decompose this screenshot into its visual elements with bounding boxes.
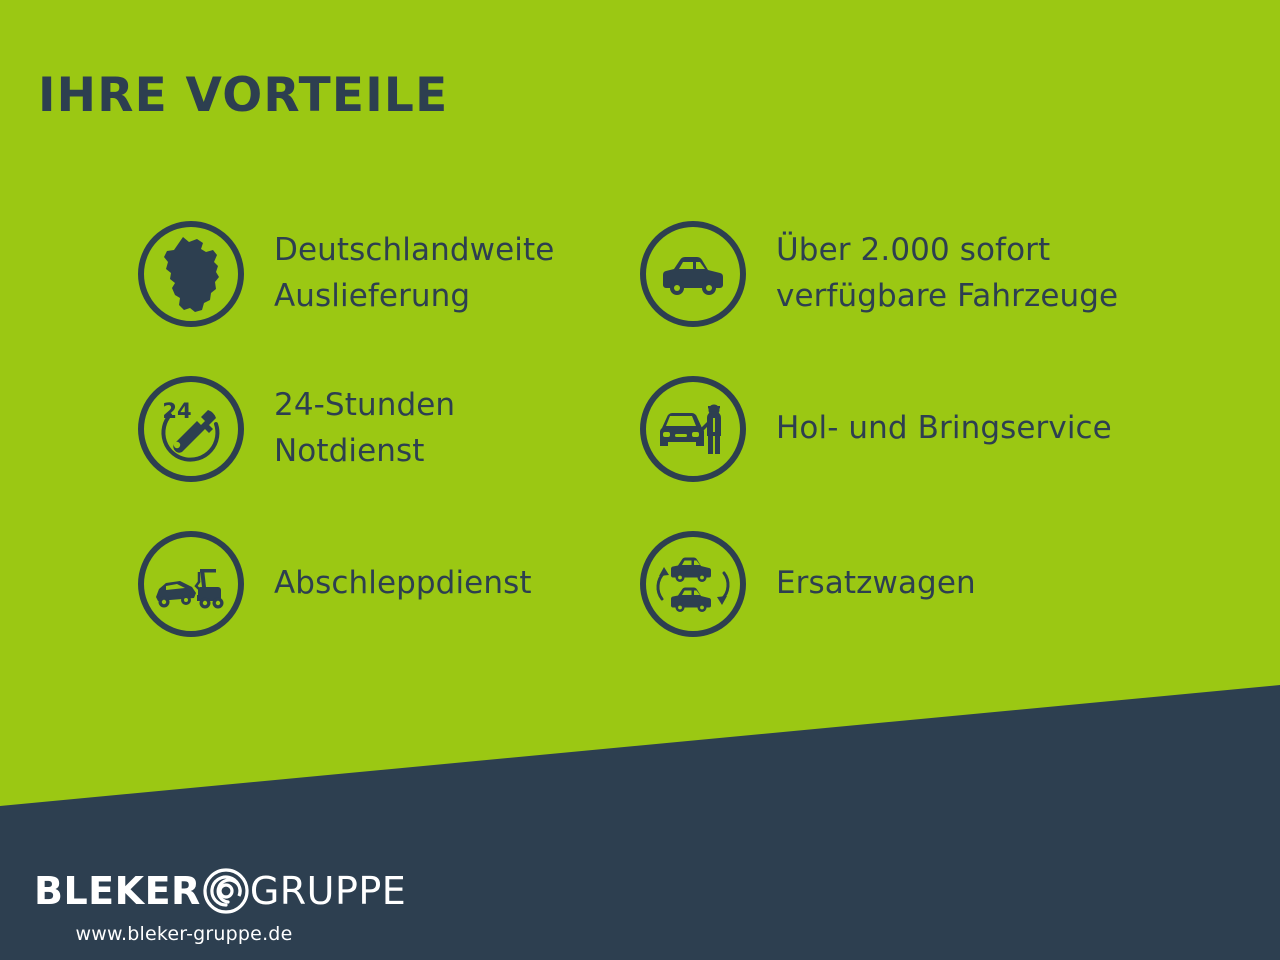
benefit-label: Deutschlandweite Auslieferung (274, 228, 554, 320)
benefit-item-deutschlandweite-auslieferung[interactable]: Deutschlandweite Auslieferung (136, 196, 656, 351)
benefit-label-line2: Auslieferung (274, 274, 554, 320)
page-title: IHRE VORTEILE (38, 72, 448, 119)
benefit-item-abschleppdienst[interactable]: Abschleppdienst (136, 506, 656, 661)
24-hour-wrench-icon: 24 (136, 374, 246, 484)
logo-text-bleker: BLEKER (34, 872, 201, 910)
company-logo[interactable]: BLEKER GRUPPE www.bleker-gruppe.de (34, 866, 374, 952)
benefit-item-verfuegbare-fahrzeuge[interactable]: Über 2.000 sofort verfügbare Fahrzeuge (638, 196, 1238, 351)
benefit-label: Ersatzwagen (776, 561, 976, 607)
slide-root: IHRE VORTEILE Deutschlandweite Ausliefer… (0, 0, 1280, 960)
benefit-label: Abschleppdienst (274, 561, 532, 607)
benefit-label-line1: Deutschlandweite (274, 232, 554, 268)
logo-website-url[interactable]: www.bleker-gruppe.de (34, 923, 334, 945)
benefit-label-line1: Abschleppdienst (274, 565, 532, 601)
benefit-label-line2: verfügbare Fahrzeuge (776, 274, 1118, 320)
benefit-label-line1: Hol- und Bringservice (776, 410, 1112, 446)
benefit-item-ersatzwagen[interactable]: Ersatzwagen (638, 506, 1238, 661)
benefit-item-hol-und-bringservice[interactable]: Hol- und Bringservice (638, 351, 1238, 506)
two-cars-exchange-icon (638, 529, 748, 639)
logo-text-gruppe: GRUPPE (250, 872, 407, 910)
benefit-label-line1: Über 2.000 sofort (776, 232, 1050, 268)
tow-truck-icon (136, 529, 246, 639)
benefits-right-column: Über 2.000 sofort verfügbare Fahrzeuge (638, 196, 1238, 661)
logo-wordmark-row: BLEKER GRUPPE (34, 866, 374, 916)
spiral-icon (199, 864, 253, 918)
car-side-icon (638, 219, 748, 329)
benefit-label: Hol- und Bringservice (776, 406, 1112, 452)
benefit-label-line2: Notdienst (274, 429, 455, 475)
benefit-item-24-stunden-notdienst[interactable]: 24 24-Stunden Notdienst (136, 351, 656, 506)
benefit-label-line1: 24-Stunden (274, 387, 455, 423)
benefits-left-column: Deutschlandweite Auslieferung 24 (136, 196, 656, 661)
car-with-driver-icon (638, 374, 748, 484)
germany-map-icon (136, 219, 246, 329)
benefit-label: 24-Stunden Notdienst (274, 383, 455, 475)
benefit-label: Über 2.000 sofort verfügbare Fahrzeuge (776, 228, 1118, 320)
svg-text:24: 24 (162, 399, 191, 423)
benefit-label-line1: Ersatzwagen (776, 565, 976, 601)
